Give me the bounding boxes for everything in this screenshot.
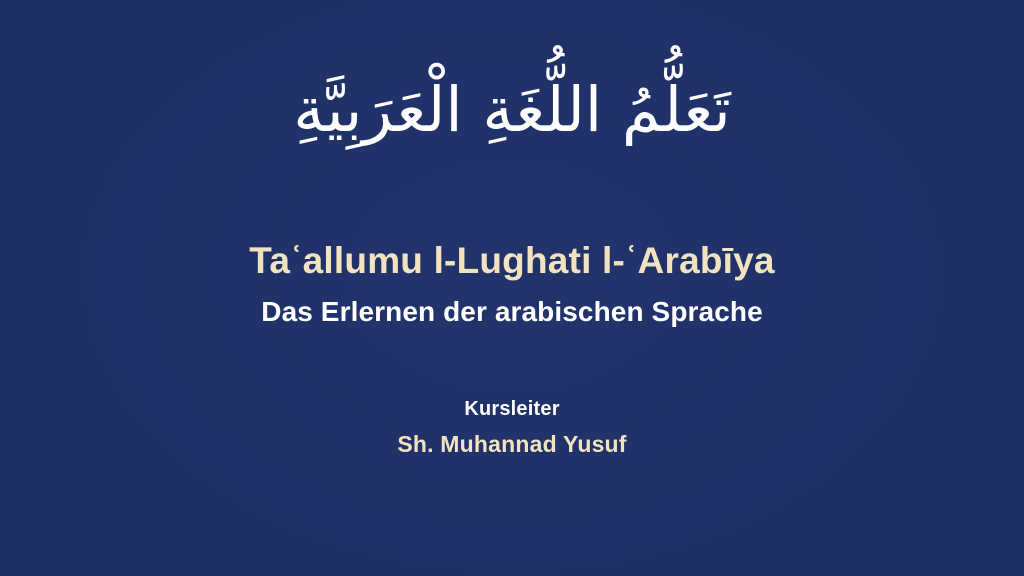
- german-translation-subtitle: Das Erlernen der arabischen Sprache: [0, 296, 1024, 328]
- arabic-course-title: تَعَلُّمُ اللُّغَةِ الْعَرَبِيَّةِ: [0, 62, 1024, 158]
- title-slide: تَعَلُّمُ اللُّغَةِ الْعَرَبِيَّةِ Taʿal…: [0, 0, 1024, 576]
- instructor-block: Kursleiter Sh. Muhannad Yusuf: [0, 396, 1024, 460]
- instructor-name: Sh. Muhannad Yusuf: [0, 430, 1024, 460]
- instructor-role-label: Kursleiter: [0, 396, 1024, 423]
- transliteration-title: Taʿallumu l-Lughati l-ʿArabīya: [0, 240, 1024, 281]
